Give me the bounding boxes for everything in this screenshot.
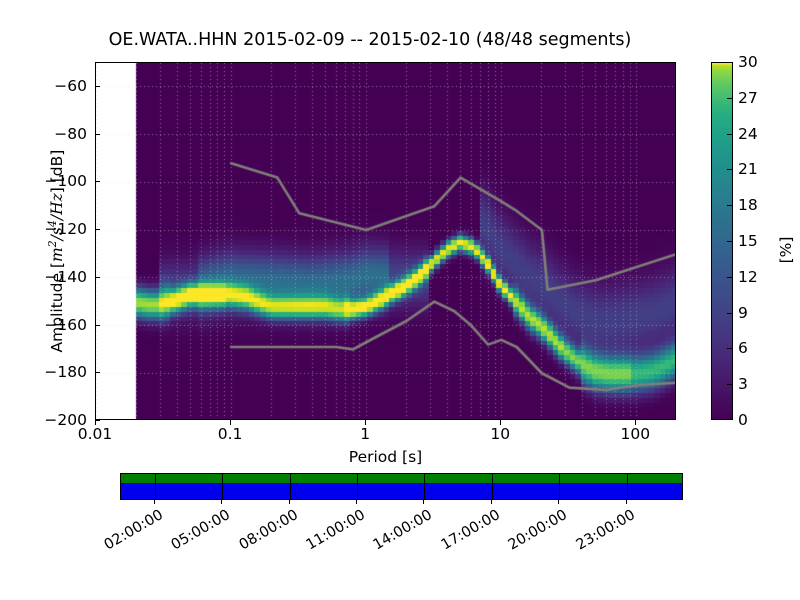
x-axis-tick-mark [365, 420, 366, 425]
y-axis-label: Amplitude [m2/s4/Hz] [dB] [46, 91, 66, 411]
coverage-tick-mark [423, 500, 424, 504]
coverage-divider [155, 474, 156, 499]
x-axis-tick-label: 0.1 [218, 425, 243, 443]
coverage-time-label: 23:00:00 [560, 507, 637, 561]
coverage-time-label: 08:00:00 [223, 507, 300, 561]
coverage-tick-mark [221, 500, 222, 504]
x-axis-tick-label: 1 [360, 425, 370, 443]
colorbar-tick-label: 3 [738, 375, 748, 393]
coverage-time-label: 14:00:00 [358, 507, 435, 561]
colorbar-tick-label: 15 [738, 232, 758, 250]
y-axis-label-prefix: Amplitude [ [48, 262, 66, 352]
y-axis-tick-mark [95, 372, 100, 373]
coverage-time-label: 02:00:00 [88, 507, 165, 561]
coverage-tick-mark [626, 500, 627, 504]
colorbar-tick-mark [727, 205, 732, 206]
colorbar-tick-mark [727, 277, 732, 278]
colorbar-tick-label: 24 [738, 125, 758, 143]
y-axis-tick-mark [95, 325, 100, 326]
colorbar-tick-label: 6 [738, 339, 748, 357]
coverage-divider [357, 474, 358, 499]
coverage-divider [222, 474, 223, 499]
colorbar-tick-label: 21 [738, 160, 758, 178]
colorbar-tick-mark [727, 241, 732, 242]
coverage-tick-mark [154, 500, 155, 504]
colorbar-tick-label: 12 [738, 268, 758, 286]
plot-title: OE.WATA..HHN 2015-02-09 -- 2015-02-10 (4… [0, 30, 740, 50]
x-axis-tick-label: 0.01 [78, 425, 113, 443]
coverage-time-label: 17:00:00 [426, 507, 503, 561]
colorbar-tick-label: 0 [738, 411, 748, 429]
x-axis-label: Period [s] [95, 448, 676, 466]
colorbar-tick-label: 9 [738, 304, 748, 322]
colorbar-tick-label: 30 [738, 53, 758, 71]
coverage-divider [424, 474, 425, 499]
coverage-divider [627, 474, 628, 499]
x-axis-tick-mark [95, 420, 96, 425]
coverage-tick-mark [289, 500, 290, 504]
y-axis-tick-mark [95, 229, 100, 230]
coverage-green-band [121, 474, 682, 483]
y-axis-label-math: m2/s4/Hz [48, 193, 66, 262]
coverage-divider [559, 474, 560, 499]
coverage-time-label: 20:00:00 [493, 507, 570, 561]
coverage-divider [492, 474, 493, 499]
colorbar-label: [%] [777, 190, 795, 310]
y-axis-tick-mark [95, 134, 100, 135]
noise-model-curves [96, 63, 676, 420]
colorbar-tick-mark [727, 134, 732, 135]
colorbar-tick-mark [727, 169, 732, 170]
ppsd-heatmap [96, 63, 676, 420]
coverage-divider [290, 474, 291, 499]
y-axis-label-suffix: ] [dB] [48, 150, 66, 194]
x-axis-tick-label: 10 [490, 425, 510, 443]
colorbar-tick-mark [727, 313, 732, 314]
coverage-tick-mark [356, 500, 357, 504]
x-axis-tick-mark [230, 420, 231, 425]
y-axis-tick-mark [95, 86, 100, 87]
time-coverage-bar[interactable] [120, 473, 683, 500]
colorbar-tick-mark [727, 384, 732, 385]
ppsd-axes[interactable] [95, 62, 676, 420]
x-axis-tick-mark [500, 420, 501, 425]
x-axis-tick-mark [635, 420, 636, 425]
coverage-blue-band [121, 483, 682, 499]
colorbar-tick-mark [727, 348, 732, 349]
colorbar-tick-mark [727, 98, 732, 99]
x-axis-tick-label: 100 [621, 425, 651, 443]
y-axis-tick-mark [95, 277, 100, 278]
coverage-time-label: 11:00:00 [291, 507, 368, 561]
coverage-time-label: 05:00:00 [156, 507, 233, 561]
coverage-tick-mark [491, 500, 492, 504]
colorbar-tick-label: 18 [738, 196, 758, 214]
y-axis-tick-mark [95, 181, 100, 182]
ppsd-figure: OE.WATA..HHN 2015-02-09 -- 2015-02-10 (4… [0, 0, 800, 600]
coverage-tick-mark [558, 500, 559, 504]
colorbar-tick-label: 27 [738, 89, 758, 107]
